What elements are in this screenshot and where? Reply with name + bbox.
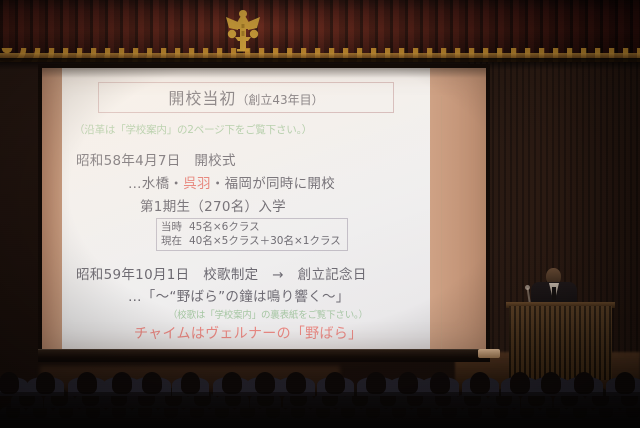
screen-pull-handle xyxy=(478,349,500,358)
slide-title-main: 開校当初 xyxy=(168,89,236,108)
audience-member-head xyxy=(286,372,306,394)
slide-note-bottom: （校歌は「学校案内」の裏表紙をご覧下さい。） xyxy=(168,307,420,321)
audience-member-head xyxy=(222,372,242,394)
screen-unlit-band-right xyxy=(430,68,486,349)
stage-curtain-valance xyxy=(0,0,640,62)
audience-member-head xyxy=(615,372,635,394)
microphone-capsule xyxy=(525,285,530,290)
audience-member-head xyxy=(36,372,56,394)
audience-foreground-shadow xyxy=(0,392,640,428)
slide-body-line-4: 昭和59年10月1日 校歌制定 → 創立記念日 xyxy=(76,263,420,283)
slide-title-box: 開校当初（創立43年目） xyxy=(98,82,394,113)
slide-title-sub: （創立43年目） xyxy=(236,93,323,107)
audience-member-head xyxy=(541,372,561,394)
table-row-label: 現在 xyxy=(161,234,189,248)
audience-member-head xyxy=(112,372,132,394)
audience-member-head xyxy=(430,372,450,394)
screen-pull-cord xyxy=(441,96,442,351)
audience-member-head xyxy=(574,372,594,394)
slide-class-size-table: 当時45名×6クラス 現在40名×5クラス＋30名×1クラス xyxy=(156,218,348,251)
table-row-value: 45名×6クラス xyxy=(189,221,260,233)
audience-member-head xyxy=(398,372,418,394)
audience-member-head xyxy=(77,372,97,394)
table-row: 当時45名×6クラス xyxy=(161,220,341,234)
screen-unlit-band-left xyxy=(42,68,62,349)
audience-member-head xyxy=(366,372,386,394)
table-row-label: 当時 xyxy=(161,220,189,234)
slide-line2-suffix: ・福岡が同時に開校 xyxy=(211,176,335,192)
slide-body-line-5: …「～“野ばら”の鐘は鳴り響く～」 xyxy=(128,285,420,305)
audience-member-head xyxy=(510,372,530,394)
auditorium-photo: 開校当初（創立43年目） （沿革は「学校案内」の2ページ下をご覧下さい。） 昭和… xyxy=(0,0,640,428)
audience-member-head xyxy=(470,372,490,394)
audience-member-head xyxy=(255,372,275,394)
slide-body-line-1: 昭和58年4月7日 開校式 xyxy=(76,149,420,169)
projection-screen-surface: 開校当初（創立43年目） （沿革は「学校案内」の2ページ下をご覧下さい。） 昭和… xyxy=(42,68,486,349)
slide-body-line-3: 第1期生（270名）入学 xyxy=(140,195,420,215)
audience-member-head xyxy=(0,372,19,394)
slide-body-line-6: チャイムはヴェルナーの「野ばら」 xyxy=(134,323,420,343)
table-row-value: 40名×5クラス＋30名×1クラス xyxy=(189,235,341,247)
slide-body-line-2: …水橋・呉羽・福岡が同時に開校 xyxy=(128,172,420,192)
table-row: 現在40名×5クラス＋30名×1クラス xyxy=(161,234,341,248)
presenter-necktie xyxy=(552,287,556,300)
slide-note-top: （沿革は「学校案内」の2ページ下をご覧下さい。） xyxy=(74,122,420,137)
audience-member-head xyxy=(181,372,201,394)
school-crest-emblem xyxy=(216,6,270,52)
slide-line2-highlight: 呉羽 xyxy=(183,176,211,192)
slide-line2-prefix: …水橋・ xyxy=(128,176,183,192)
projected-slide: 開校当初（創立43年目） （沿革は「学校案内」の2ページ下をご覧下さい。） 昭和… xyxy=(62,68,430,349)
audience-member-head xyxy=(325,372,345,394)
audience-member-head xyxy=(142,372,162,394)
